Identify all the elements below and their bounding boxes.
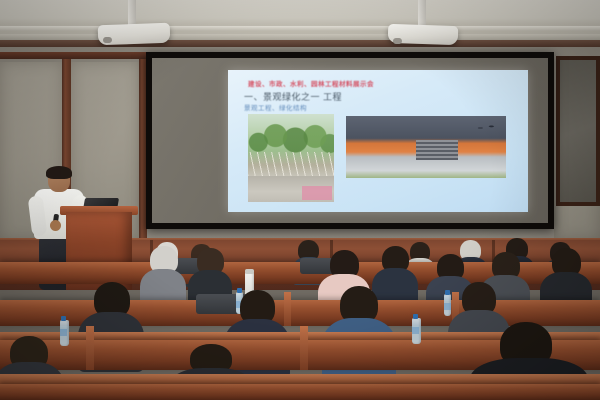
tree-stakes-shape	[248, 152, 334, 178]
projector-mount-pole	[418, 0, 426, 27]
bottle-cap	[413, 314, 418, 319]
side-window	[556, 56, 600, 206]
birds-shape	[476, 124, 498, 132]
presentation-slide: 建设、市政、水利、园林工程材料展示会 一、景观绿化之一 工程 景观工程、绿化结构	[228, 70, 528, 212]
projector-lens	[103, 37, 112, 43]
slide-subtitle-text: 景观工程、绿化结构	[244, 102, 307, 112]
presenter-hair	[46, 166, 72, 179]
wall-trim-top	[0, 52, 147, 59]
photo-watermark-box	[302, 186, 332, 200]
ceiling-molding-upper	[0, 26, 600, 31]
projector-mount-pole	[128, 0, 136, 26]
slide-photo-building	[346, 116, 506, 178]
slide-photo-trees	[248, 114, 334, 202]
projector-lens	[393, 38, 402, 44]
slide-header-text: 建设、市政、水利、园林工程材料展示会	[248, 78, 374, 88]
building-grille-shape	[416, 140, 458, 160]
ceiling	[0, 0, 600, 40]
bottle-cap	[61, 316, 66, 321]
seat-row-front	[0, 384, 600, 400]
screen-surface: 建设、市政、水利、园林工程材料展示会 一、景观绿化之一 工程 景观工程、绿化结构	[152, 58, 548, 223]
window-glass	[560, 60, 596, 202]
projection-screen: 建设、市政、水利、园林工程材料展示会 一、景观绿化之一 工程 景观工程、绿化结构	[146, 52, 554, 229]
lecture-hall-photo: 建设、市政、水利、园林工程材料展示会 一、景观绿化之一 工程 景观工程、绿化结构	[0, 0, 600, 400]
